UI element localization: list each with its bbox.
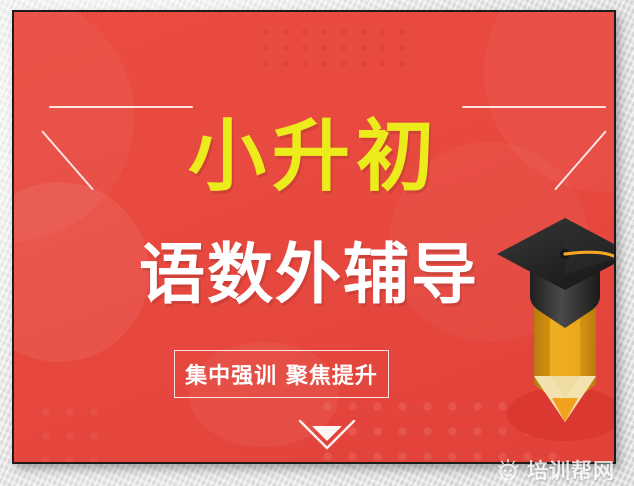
pencil-graduation-cap-illustration bbox=[492, 200, 614, 450]
smiley-sun-icon bbox=[496, 458, 520, 482]
headline-primary: 小升初 bbox=[14, 118, 614, 196]
page-background: 小升初 语数外辅导 集中强训 聚焦提升 bbox=[0, 0, 634, 486]
decorative-line-left-horizontal bbox=[49, 106, 193, 108]
dot-grid-top bbox=[254, 20, 414, 66]
banner: 小升初 语数外辅导 集中强训 聚焦提升 bbox=[14, 12, 614, 462]
tagline-box: 集中强训 聚焦提升 bbox=[174, 350, 389, 398]
tagline-text: 集中强训 聚焦提升 bbox=[185, 358, 378, 390]
watermark-text: 培训帮网 bbox=[527, 455, 615, 485]
dot-grid-left-lower bbox=[34, 400, 104, 462]
chevron-down-icon bbox=[298, 417, 356, 453]
banner-frame: 小升初 语数外辅导 集中强训 聚焦提升 bbox=[12, 10, 616, 464]
decorative-line-right-horizontal bbox=[462, 106, 606, 108]
watermark: 培训帮网 bbox=[496, 455, 615, 485]
